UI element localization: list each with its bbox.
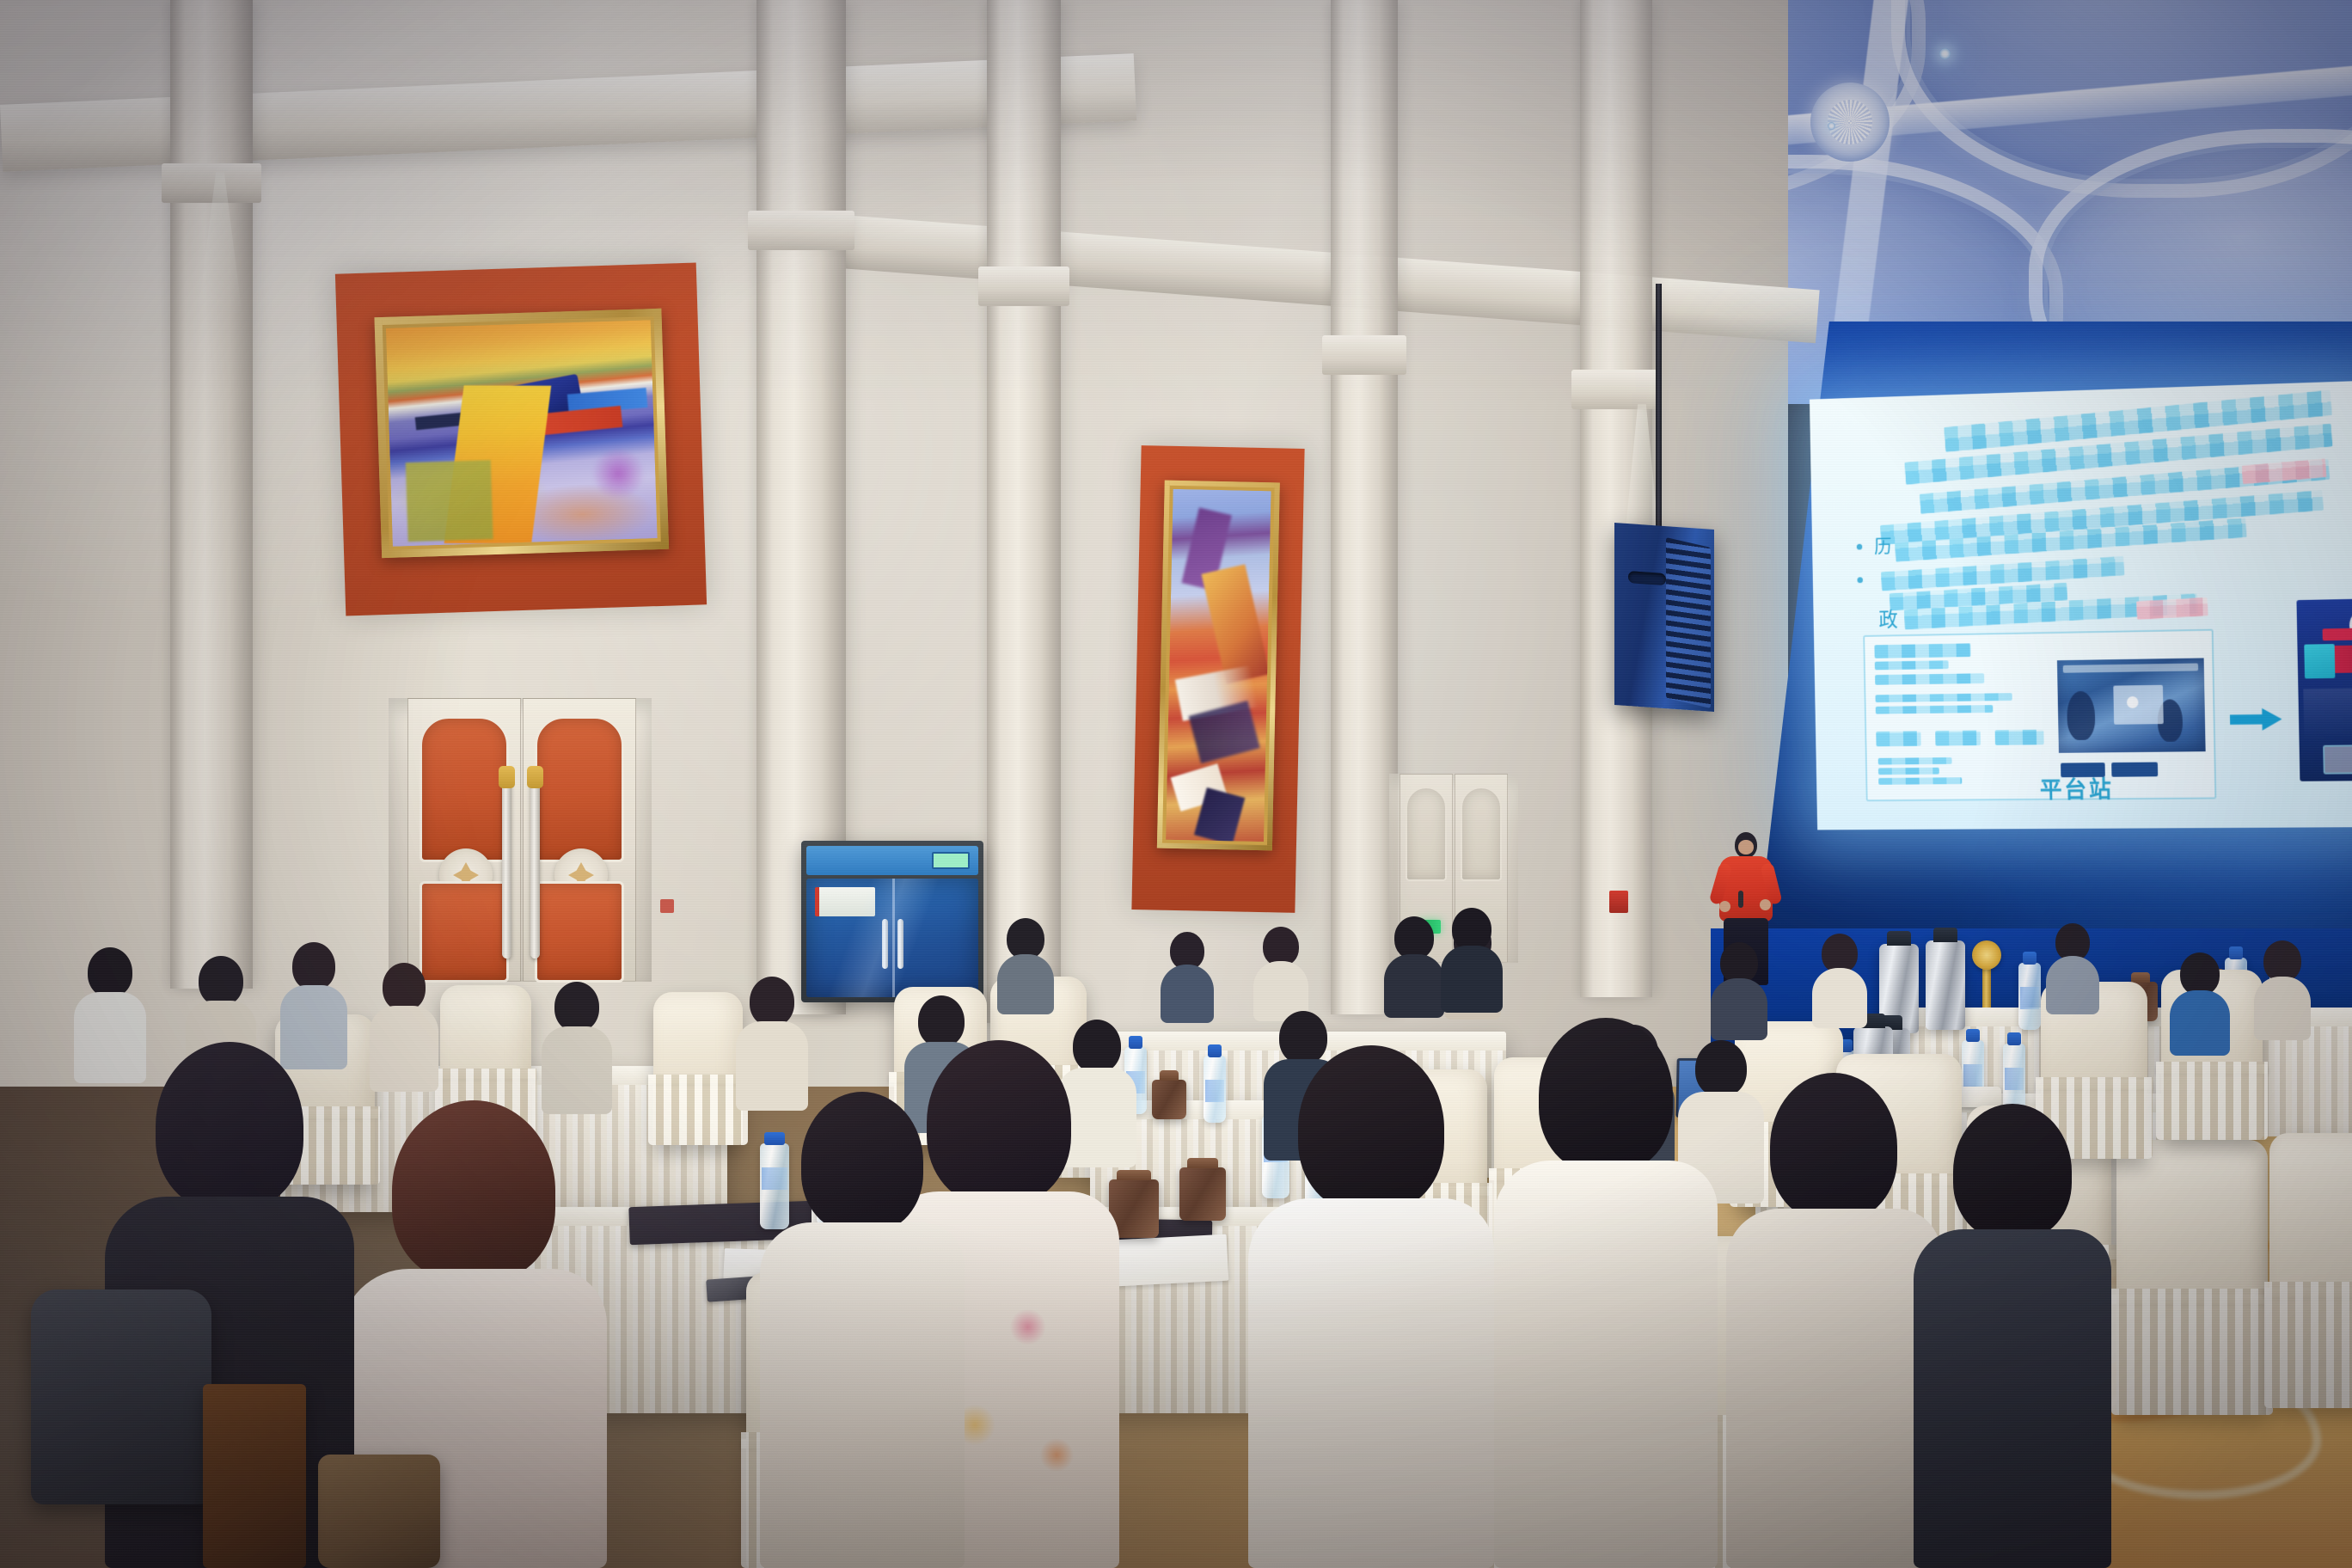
water-bottle <box>2003 1044 2025 1111</box>
tea-pot <box>1179 1167 1226 1221</box>
speaker-grille <box>1666 537 1711 707</box>
ballroom-door-left[interactable] <box>407 698 521 982</box>
photo-figure <box>2067 691 2095 740</box>
attendee-head <box>1953 1104 2072 1240</box>
thermos-flask <box>1926 940 1965 1030</box>
attendee-torso <box>2170 990 2230 1056</box>
tea-pot <box>1152 1080 1186 1119</box>
redacted-card-stat <box>1995 730 2044 745</box>
slide-cjk-fragment: 历 <box>1874 531 1895 559</box>
banquet-chair[interactable] <box>2116 1140 2268 1415</box>
abstract-vertical-painting <box>1166 489 1271 842</box>
redacted-card-list <box>1878 757 1952 765</box>
painting-frame <box>374 309 669 558</box>
banquet-chair[interactable] <box>2269 1133 2352 1408</box>
attendee-head <box>383 963 426 1011</box>
app-badge <box>2323 628 2352 641</box>
redacted-card-list <box>1878 777 1962 785</box>
art-backing-panel <box>335 263 707 616</box>
wooden-chair-back[interactable] <box>203 1384 306 1568</box>
handbag <box>318 1455 440 1568</box>
attendee-head <box>750 977 794 1026</box>
pilaster-capital <box>162 163 261 203</box>
card-button-secondary[interactable] <box>2111 763 2158 777</box>
slide-caption: 平台站 <box>2040 771 2114 805</box>
door-handle[interactable] <box>502 778 511 959</box>
photo-ui-bar <box>2063 663 2198 672</box>
wall-pilaster <box>170 0 253 989</box>
redacted-highlight <box>2136 597 2208 620</box>
chair-skirt <box>2111 1289 2273 1415</box>
handheld-microphone <box>1738 891 1743 908</box>
flow-arrow-icon <box>2230 708 2282 732</box>
ceiling-downlight <box>1939 48 1951 59</box>
operator-head <box>1452 908 1491 951</box>
attendee-foreground <box>1914 1104 2111 1568</box>
presenter-face <box>1738 840 1754 854</box>
door-panel <box>535 881 624 983</box>
door-panel <box>535 716 624 862</box>
redacted-card-body <box>1876 705 1994 714</box>
attendee-head <box>292 942 335 990</box>
attendee-head <box>392 1100 555 1281</box>
attendee-torso <box>1384 954 1444 1018</box>
attendee-head <box>1720 942 1758 983</box>
attendee <box>736 977 808 1111</box>
attendee-head <box>156 1042 303 1210</box>
fridge-glass-doors[interactable] <box>806 879 978 997</box>
app-tile <box>2304 644 2335 678</box>
attendee-foreground <box>760 1092 965 1568</box>
attendee <box>2254 940 2311 1037</box>
attendee-torso <box>370 1006 438 1092</box>
painting-canvas <box>1166 489 1271 842</box>
attendee-torso <box>1494 1161 1718 1568</box>
attendee <box>2170 952 2230 1054</box>
pilaster-capital <box>748 211 854 250</box>
water-bottle <box>2018 963 2041 1030</box>
speaker-port <box>1628 571 1666 585</box>
redacted-card-body <box>1875 693 2012 702</box>
painting-stroke <box>1202 564 1271 683</box>
projection-screen: 历 政 <box>1810 380 2352 830</box>
attendee-torso <box>1248 1198 1494 1568</box>
attendee-head <box>554 982 599 1032</box>
beverage-display-fridge[interactable] <box>801 841 983 1002</box>
water-bottle <box>1204 1056 1226 1123</box>
attendee-torso <box>1161 965 1214 1023</box>
painting-canvas <box>386 320 658 547</box>
slide-bullet-marker <box>1857 544 1863 550</box>
pilaster-capital <box>978 266 1069 306</box>
ceiling-downlight <box>1828 122 1835 130</box>
attendee <box>1812 934 1867 1026</box>
pilaster-capital <box>1571 370 1661 409</box>
fridge-reflection <box>806 879 978 997</box>
pilaster-capital <box>1322 335 1406 375</box>
wall-pilaster <box>987 0 1061 1023</box>
fridge-temperature-display <box>932 852 970 869</box>
presentation-slide: 历 政 <box>1810 380 2352 830</box>
table-number-disc <box>1972 940 2001 970</box>
attendee-torso <box>1812 968 1867 1028</box>
attendee <box>1711 942 1767 1037</box>
banquet-chair[interactable] <box>653 992 743 1145</box>
fire-alarm-point <box>1609 891 1628 913</box>
attendee-torso <box>760 1222 965 1568</box>
painting-stroke <box>591 447 645 501</box>
ballroom-door-right[interactable] <box>523 698 636 982</box>
redacted-card-list <box>1878 768 1939 775</box>
attendee-head <box>1007 918 1044 959</box>
door-recess <box>389 698 652 982</box>
attendee-head <box>2263 940 2301 982</box>
ceiling-rosette <box>1810 83 1890 162</box>
attendee-torso <box>2046 956 2099 1014</box>
attendee-foreground <box>1248 1045 1494 1568</box>
attendee <box>2046 923 2099 1013</box>
attendee-torso <box>2254 977 2311 1040</box>
painting-frame <box>1157 481 1280 851</box>
attendee <box>1384 916 1444 1016</box>
attendee-torso <box>1914 1229 2111 1568</box>
chair-skirt <box>2264 1282 2352 1408</box>
attendee-head <box>199 956 243 1006</box>
fridge-control-panel[interactable] <box>806 846 978 875</box>
backpack <box>31 1289 211 1504</box>
redacted-card-stat <box>1876 731 1920 746</box>
presenter-hand-left <box>1719 901 1730 912</box>
painting-stroke <box>406 461 493 542</box>
table-number-stand <box>1982 963 1991 1008</box>
door-panel <box>1406 787 1447 881</box>
door-panel <box>1461 787 1502 881</box>
attendee-torso <box>1711 978 1767 1040</box>
attendee-foreground <box>1726 1073 1941 1568</box>
door-panel <box>420 716 509 862</box>
abstract-landscape-painting <box>386 320 658 547</box>
attendee <box>997 918 1054 1013</box>
presenter-hand-right <box>1760 899 1771 910</box>
attendee-head <box>1298 1045 1444 1212</box>
redacted-card-meta <box>1875 673 1984 685</box>
attendee <box>370 963 438 1090</box>
attendee <box>1161 932 1214 1021</box>
conference-hall-photo: 历 政 <box>0 0 2352 1568</box>
attendee-head <box>2180 952 2220 995</box>
attendee-head <box>801 1092 923 1233</box>
app-caption-box <box>2323 744 2352 775</box>
wall-socket <box>660 899 674 913</box>
photo-monitor <box>2113 685 2163 725</box>
attendee-head <box>1394 916 1434 959</box>
av-operator <box>1441 908 1503 1011</box>
art-backing-panel <box>1131 445 1304 913</box>
presenter-head <box>1735 832 1757 858</box>
attendee <box>542 982 612 1114</box>
redacted-card-meta <box>1875 660 1949 670</box>
line-array-speaker <box>1614 523 1714 712</box>
attendee-head <box>918 995 965 1047</box>
redacted-card-stat <box>1935 731 1981 746</box>
slide-cjk-fragment: 政 <box>1878 603 1901 632</box>
slide-bullet-marker <box>1857 577 1863 583</box>
redacted-card-title <box>1874 643 1970 658</box>
app-content-strip <box>2303 688 2352 740</box>
wall-pilaster <box>1331 0 1398 1014</box>
attendee-torso <box>997 954 1054 1014</box>
attendee-torso <box>1726 1209 1941 1568</box>
attendee-foreground <box>1494 1018 1718 1568</box>
card-photo <box>2057 658 2206 752</box>
app-banner <box>2333 645 2352 673</box>
attendee-head <box>1770 1073 1897 1221</box>
chair-skirt <box>2156 1062 2268 1140</box>
photo-monitor-logo <box>2127 696 2139 708</box>
attendee-head <box>1539 1018 1673 1173</box>
operator-torso <box>1441 946 1503 1013</box>
attendee <box>1253 927 1308 1020</box>
attendee-head <box>88 947 132 997</box>
chair-skirt <box>648 1075 748 1145</box>
speaker-mount-pole <box>1656 284 1662 542</box>
door-handle[interactable] <box>530 778 540 959</box>
